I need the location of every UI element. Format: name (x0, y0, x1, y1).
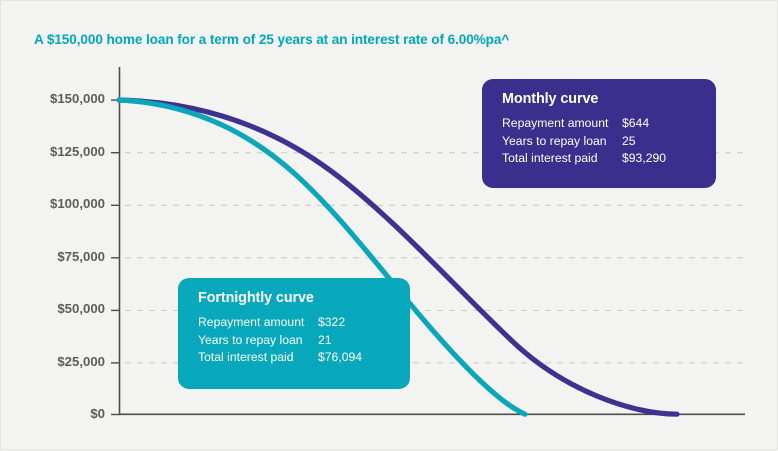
callout-fortnightly-curve: Fortnightly curve Repayment amount $322 … (178, 278, 410, 389)
callout-fortnightly-label-years-to-repay: Years to repay loan (198, 332, 318, 350)
callout-monthly-label-years-to-repay: Years to repay loan (502, 133, 622, 151)
y-tick-label-150000: $150,000 (9, 91, 105, 106)
callout-fortnightly-title: Fortnightly curve (198, 290, 392, 306)
callout-monthly-curve: Monthly curve Repayment amount $644 Year… (482, 79, 716, 188)
callout-fortnightly-row-repayment-amount: Repayment amount $322 (198, 314, 392, 332)
callout-monthly-label-repayment-amount: Repayment amount (502, 115, 622, 133)
callout-monthly-value-total-interest: $93,290 (622, 150, 698, 168)
y-tick-label-100000: $100,000 (9, 196, 105, 211)
y-tick-label-50000: $50,000 (9, 301, 105, 316)
callout-monthly-value-repayment-amount: $644 (622, 115, 698, 133)
callout-fortnightly-row-years-to-repay: Years to repay loan 21 (198, 332, 392, 350)
callout-monthly-title: Monthly curve (502, 91, 698, 107)
callout-fortnightly-value-repayment-amount: $322 (318, 314, 392, 332)
callout-monthly-label-total-interest: Total interest paid (502, 150, 622, 168)
callout-fortnightly-row-total-interest: Total interest paid $76,094 (198, 349, 392, 367)
callout-fortnightly-label-total-interest: Total interest paid (198, 349, 318, 367)
callout-fortnightly-value-total-interest: $76,094 (318, 349, 392, 367)
y-axis-ticks (111, 100, 120, 414)
y-tick-label-0: $0 (9, 406, 105, 421)
callout-fortnightly-value-years-to-repay: 21 (318, 332, 392, 350)
callout-monthly-row-years-to-repay: Years to repay loan 25 (502, 133, 698, 151)
chart-canvas: A $150,000 home loan for a term of 25 ye… (0, 0, 778, 450)
y-tick-label-75000: $75,000 (9, 249, 105, 264)
callout-monthly-row-total-interest: Total interest paid $93,290 (502, 150, 698, 168)
callout-fortnightly-label-repayment-amount: Repayment amount (198, 314, 318, 332)
y-tick-label-125000: $125,000 (9, 144, 105, 159)
y-tick-label-25000: $25,000 (9, 354, 105, 369)
callout-monthly-row-repayment-amount: Repayment amount $644 (502, 115, 698, 133)
callout-monthly-value-years-to-repay: 25 (622, 133, 698, 151)
